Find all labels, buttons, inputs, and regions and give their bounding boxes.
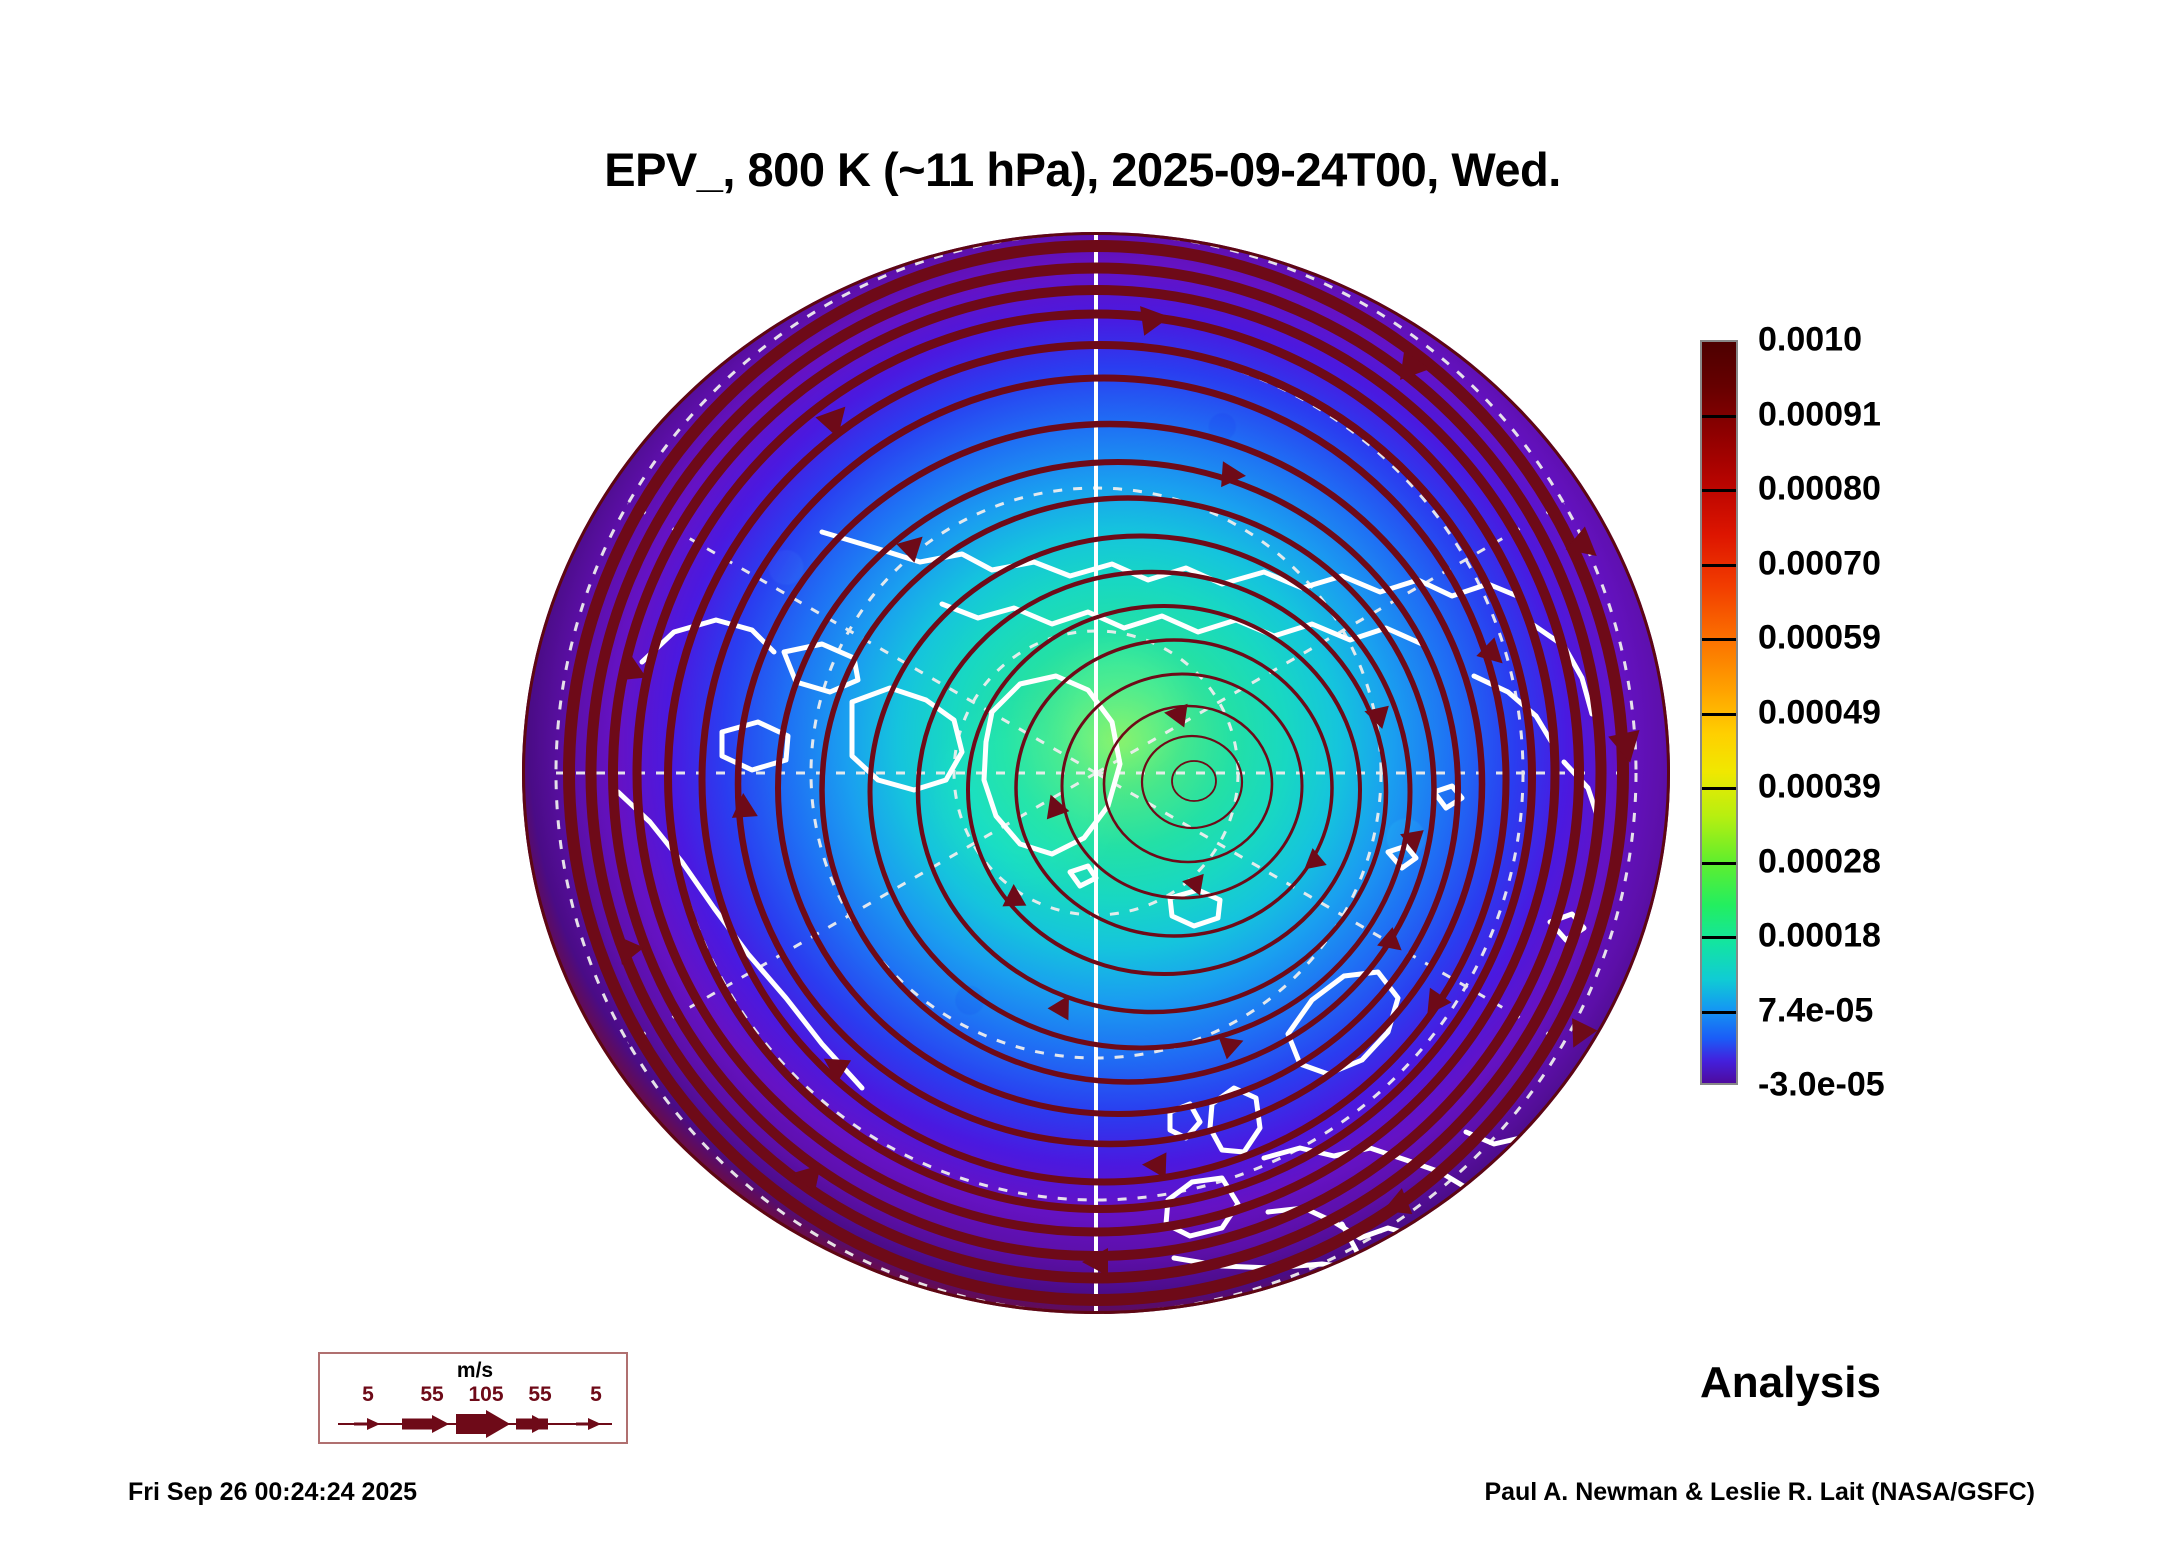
colorbar-tick [1702,415,1736,418]
generation-timestamp: Fri Sep 26 00:24:24 2025 [128,1478,417,1507]
colorbar-tick-label: 0.00059 [1758,619,1881,658]
polar-map-panel [522,232,1670,1314]
page-title: EPV_, 800 K (~11 hPa), 2025-09-24T00, We… [0,142,2165,197]
colorbar-tick-label: -3.0e-05 [1758,1066,1885,1105]
colorbar-tick-label: 7.4e-05 [1758,991,1873,1030]
wind-value-label: 5 [362,1383,374,1407]
colorbar-tick-label: 0.00080 [1758,470,1881,509]
author-credit: Paul A. Newman & Leslie R. Lait (NASA/GS… [1484,1478,2035,1507]
colorbar-tick [1702,564,1736,567]
colorbar-tick-label: 0.00091 [1758,395,1881,434]
wind-arrow-scale-icon [320,1406,630,1442]
analysis-label: Analysis [1700,1358,1881,1408]
colorbar-tick [1702,862,1736,865]
wind-value-label: 105 [468,1383,503,1407]
colorbar-tick [1702,787,1736,790]
colorbar-tick-label: 0.00049 [1758,693,1881,732]
wind-streamline-layer [522,232,1670,1314]
colorbar-tick [1702,1011,1736,1014]
colorbar-tick [1702,489,1736,492]
colorbar-tick-label: 0.0010 [1758,321,1862,360]
wind-speed-legend: m/s 555105555 [318,1352,628,1444]
colorbar-tick-label: 0.00039 [1758,768,1881,807]
wind-value-label: 55 [420,1383,443,1407]
colorbar-tick-label: 0.00070 [1758,544,1881,583]
colorbar-tick [1702,638,1736,641]
colorbar-tick-label: 0.00028 [1758,842,1881,881]
colorbar-tick [1702,936,1736,939]
wind-value-label: 55 [528,1383,551,1407]
map-disc [522,232,1670,1314]
wind-value-label: 5 [590,1383,602,1407]
colorbar-tick-label: 0.00018 [1758,917,1881,956]
wind-unit-label: m/s [320,1359,630,1383]
colorbar-tick [1702,713,1736,716]
colorbar-panel: 0.00100.000910.000800.000700.000590.0004… [1700,340,2120,1090]
